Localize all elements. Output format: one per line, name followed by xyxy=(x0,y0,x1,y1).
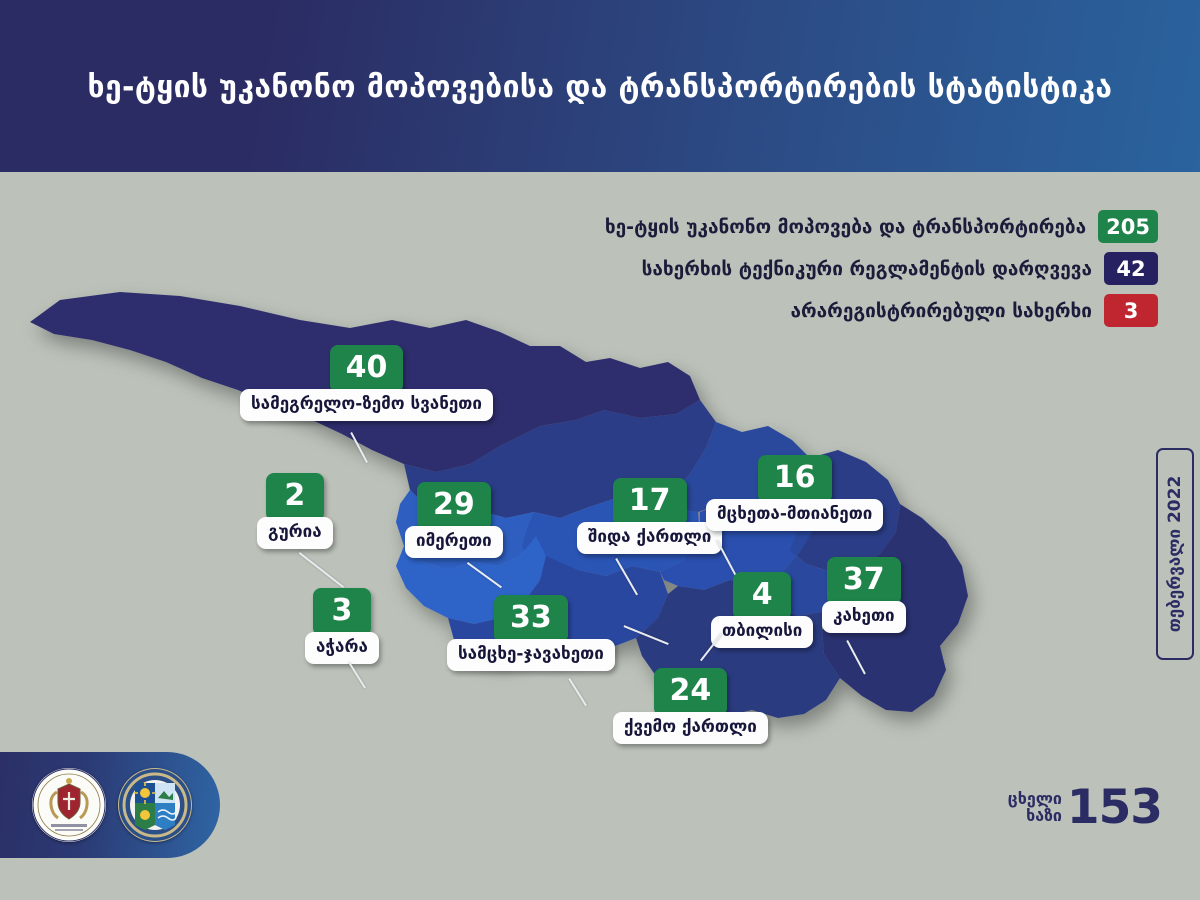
department-seal-icon xyxy=(118,768,192,842)
marker-value: 4 xyxy=(733,572,791,620)
marker-label: მცხეთა-მთიანეთი xyxy=(706,499,883,531)
map-marker-tbilisi[interactable]: 4 თბილისი xyxy=(711,572,813,648)
marker-value: 3 xyxy=(313,588,371,636)
marker-value: 33 xyxy=(494,595,568,643)
marker-value: 16 xyxy=(758,455,832,503)
marker-value: 37 xyxy=(827,557,901,605)
marker-value: 2 xyxy=(266,473,324,521)
map-marker-mtskheta[interactable]: 16 მცხეთა-მთიანეთი xyxy=(706,455,883,531)
legend-label: ხე-ტყის უკანონო მოპოვება და ტრანსპორტირე… xyxy=(605,216,1098,238)
marker-label: აჭარა xyxy=(305,632,379,664)
header-banner: ხე-ტყის უკანონო მოპოვებისა და ტრანსპორტი… xyxy=(0,0,1200,172)
legend-value-badge: 42 xyxy=(1104,252,1158,285)
legend-value-badge: 3 xyxy=(1104,294,1158,327)
hotline-words: ცხელი ხაზი xyxy=(1008,791,1062,824)
date-badge-label: თებერვალი 2022 xyxy=(1165,476,1185,633)
logo-banner xyxy=(0,752,220,858)
georgia-map xyxy=(0,250,1060,790)
page-title: ხე-ტყის უკანონო მოპოვებისა და ტრანსპორტი… xyxy=(0,70,1200,105)
map-marker-kvemo-kartli[interactable]: 24 ქვემო ქართლი xyxy=(613,668,768,744)
marker-value: 24 xyxy=(654,668,728,716)
legend-row: ხე-ტყის უკანონო მოპოვება და ტრანსპორტირე… xyxy=(438,210,1158,243)
map-marker-guria[interactable]: 2 გურია xyxy=(257,473,333,549)
infographic-root: ხე-ტყის უკანონო მოპოვებისა და ტრანსპორტი… xyxy=(0,0,1200,900)
date-badge: თებერვალი 2022 xyxy=(1156,448,1194,660)
map-marker-samtskhe[interactable]: 33 სამცხე-ჯავახეთი xyxy=(447,595,615,671)
marker-value: 17 xyxy=(613,478,687,526)
marker-label: კახეთი xyxy=(822,601,906,633)
marker-label: სამეგრელო-ზემო სვანეთი xyxy=(240,389,493,421)
marker-label: თბილისი xyxy=(711,616,813,648)
hotline: ცხელი ხაზი 153 xyxy=(1008,786,1162,829)
ministry-coat-of-arms-icon xyxy=(32,768,106,842)
map-marker-imereti[interactable]: 29 იმერეთი xyxy=(405,482,503,558)
map-marker-shida-kartli[interactable]: 17 შიდა ქართლი xyxy=(577,478,722,554)
marker-value: 40 xyxy=(330,345,404,393)
hotline-line2: ხაზი xyxy=(1026,808,1062,825)
hotline-number: 153 xyxy=(1067,786,1162,829)
map-marker-adjara[interactable]: 3 აჭარა xyxy=(305,588,379,664)
marker-value: 29 xyxy=(417,482,491,530)
marker-label: სამცხე-ჯავახეთი xyxy=(447,639,615,671)
marker-label: ქვემო ქართლი xyxy=(613,712,768,744)
marker-label: იმერეთი xyxy=(405,526,503,558)
marker-label: გურია xyxy=(257,517,333,549)
map-marker-kakheti[interactable]: 37 კახეთი xyxy=(822,557,906,633)
legend-value-badge: 205 xyxy=(1098,210,1158,243)
marker-label: შიდა ქართლი xyxy=(577,522,722,554)
map-svg xyxy=(0,250,1060,790)
map-marker-samegrelo[interactable]: 40 სამეგრელო-ზემო სვანეთი xyxy=(240,345,493,421)
